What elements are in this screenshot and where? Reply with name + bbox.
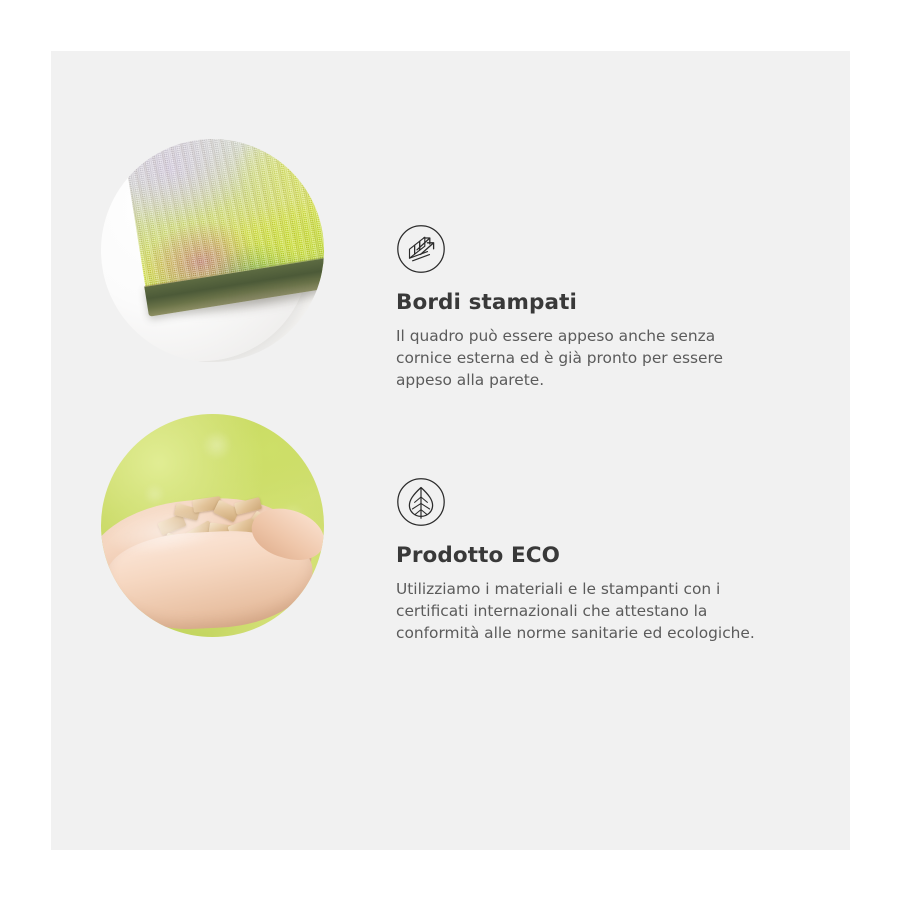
canvas-wrapped-edges-icon	[396, 224, 446, 274]
feature-text-eco-product: Prodotto ECO Utilizziamo i materiali e l…	[396, 414, 768, 644]
feature-title: Bordi stampati	[396, 291, 768, 316]
feature-text-printed-edges: Bordi stampati Il quadro può essere appe…	[396, 139, 768, 391]
product-feature-page: Bordi stampati Il quadro può essere appe…	[0, 0, 900, 900]
feature-description: Il quadro può essere appeso anche senza …	[396, 325, 762, 391]
feature-title: Prodotto ECO	[396, 544, 768, 569]
canvas-corner	[122, 139, 324, 346]
feature-description: Utilizziamo i materiali e le stampanti c…	[396, 578, 762, 644]
printed-canvas-corner-photo	[101, 139, 324, 362]
feature-block-printed-edges: Bordi stampati Il quadro può essere appe…	[101, 139, 768, 391]
hands-holding-wood-chips-photo	[101, 414, 324, 637]
leaf-icon	[396, 477, 446, 527]
feature-block-eco-product: Prodotto ECO Utilizziamo i materiali e l…	[101, 414, 768, 644]
